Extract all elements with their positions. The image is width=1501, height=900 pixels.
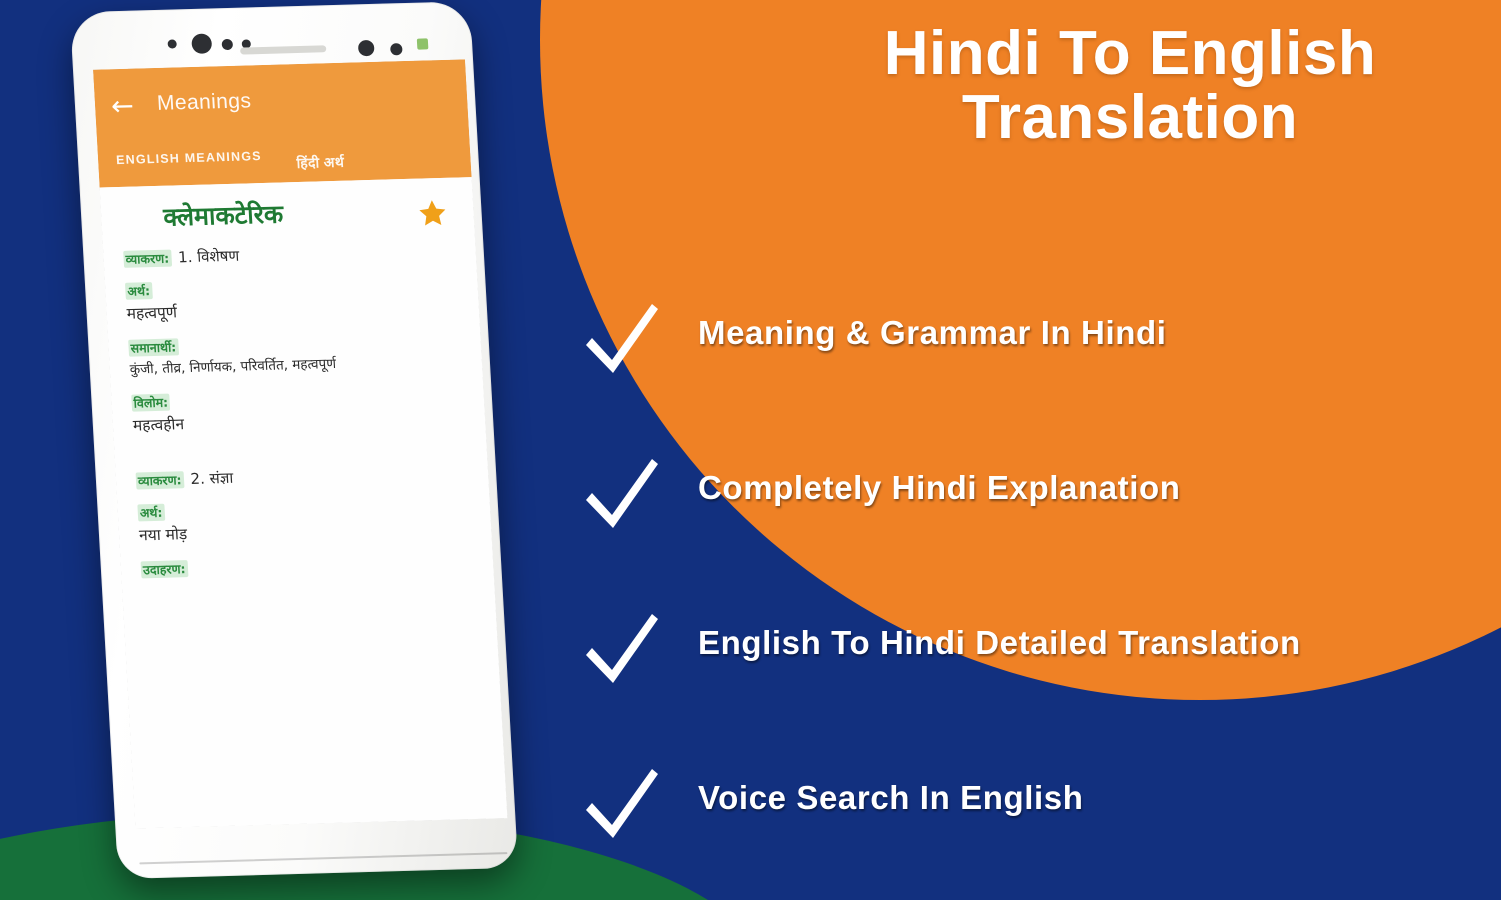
light-sensor-icon bbox=[222, 39, 234, 50]
proximity-sensor-icon bbox=[167, 39, 177, 48]
meaning-value: नया मोड़ bbox=[139, 517, 472, 546]
app-bar-title: Meanings bbox=[156, 89, 252, 116]
front-camera-icon bbox=[191, 33, 212, 54]
meaning-tag: अर्थ: bbox=[125, 282, 152, 300]
phone-bottom-edge bbox=[139, 852, 507, 864]
meaning-line: अर्थ: नया मोड़ bbox=[137, 493, 471, 546]
synonym-line: समानार्थी: कुंजी, तीव्र, निर्णायक, परिवर… bbox=[128, 329, 462, 379]
headword: क्लेमाकटेरिक bbox=[162, 196, 284, 233]
headline-line-1: Hindi To English bbox=[770, 22, 1490, 86]
tab-hindi-meanings[interactable]: हिंदी अर्थ bbox=[296, 153, 345, 173]
feature-item: Voice Search In English bbox=[576, 761, 1501, 900]
notification-led bbox=[417, 38, 429, 49]
antonym-value: महत्वहीन bbox=[132, 408, 465, 437]
star-icon[interactable] bbox=[417, 198, 449, 229]
headline-line-2: Translation bbox=[770, 86, 1490, 150]
feature-label: Voice Search In English bbox=[698, 779, 1083, 817]
grammar-value: 1. विशेषण bbox=[178, 246, 240, 268]
meanings-content: क्लेमाकटेरिक व्याकरण:1. विशेषण bbox=[100, 177, 508, 828]
feature-item: Meaning & Grammar In Hindi bbox=[576, 296, 1501, 451]
app-bar: ← Meanings ENGLISH MEANINGS हिंदी अर्थ bbox=[93, 59, 472, 187]
antonym-tag: विलोम: bbox=[131, 394, 170, 412]
checkmark-icon bbox=[582, 457, 660, 535]
feature-item: Completely Hindi Explanation bbox=[576, 451, 1501, 606]
synonym-value: कुंजी, तीव्र, निर्णायक, परिवर्तित, महत्व… bbox=[129, 353, 462, 379]
secondary-sensor-icon bbox=[390, 43, 403, 55]
feature-label: Completely Hindi Explanation bbox=[698, 469, 1181, 507]
back-arrow-icon[interactable]: ← bbox=[110, 95, 135, 120]
headword-row: क्लेमाकटेरिक bbox=[120, 192, 455, 247]
promo-banner: Hindi To English Translation Meaning & G… bbox=[0, 0, 1501, 900]
phone-body: ← Meanings ENGLISH MEANINGS हिंदी अर्थ क… bbox=[70, 1, 518, 879]
example-tag: उदाहरण: bbox=[141, 560, 188, 578]
phone-mockup: ← Meanings ENGLISH MEANINGS हिंदी अर्थ क… bbox=[63, 0, 533, 895]
secondary-camera-icon bbox=[358, 40, 375, 56]
antonym-line: विलोम: महत्वहीन bbox=[131, 384, 465, 437]
definition-entry: व्याकरण:2. संज्ञा अर्थ: नया मोड़ उदाहरण: bbox=[135, 461, 473, 578]
grammar-value: 2. संज्ञा bbox=[190, 467, 234, 488]
feature-item: English To Hindi Detailed Translation bbox=[576, 606, 1501, 761]
feature-list: Meaning & Grammar In Hindi Completely Hi… bbox=[576, 296, 1501, 900]
meaning-value: महत्वपूर्ण bbox=[126, 296, 459, 325]
meaning-line: अर्थ: महत्वपूर्ण bbox=[125, 272, 459, 325]
feature-label: English To Hindi Detailed Translation bbox=[698, 624, 1301, 662]
checkmark-icon bbox=[582, 612, 660, 690]
page-title: Hindi To English Translation bbox=[770, 22, 1490, 150]
grammar-tag: व्याकरण: bbox=[136, 471, 184, 489]
checkmark-icon bbox=[582, 767, 660, 845]
feature-label: Meaning & Grammar In Hindi bbox=[698, 314, 1167, 352]
definition-entry: व्याकरण:1. विशेषण अर्थ: महत्वपूर्ण समाना… bbox=[123, 240, 465, 437]
earpiece-speaker bbox=[240, 45, 326, 54]
synonym-tag: समानार्थी: bbox=[128, 339, 179, 357]
checkmark-icon bbox=[582, 302, 660, 380]
meaning-tag: अर्थ: bbox=[137, 503, 164, 521]
tab-english-meanings[interactable]: ENGLISH MEANINGS bbox=[116, 149, 262, 167]
grammar-tag: व्याकरण: bbox=[123, 250, 171, 268]
phone-screen: ← Meanings ENGLISH MEANINGS हिंदी अर्थ क… bbox=[93, 59, 507, 828]
example-line: उदाहरण: bbox=[140, 550, 473, 578]
